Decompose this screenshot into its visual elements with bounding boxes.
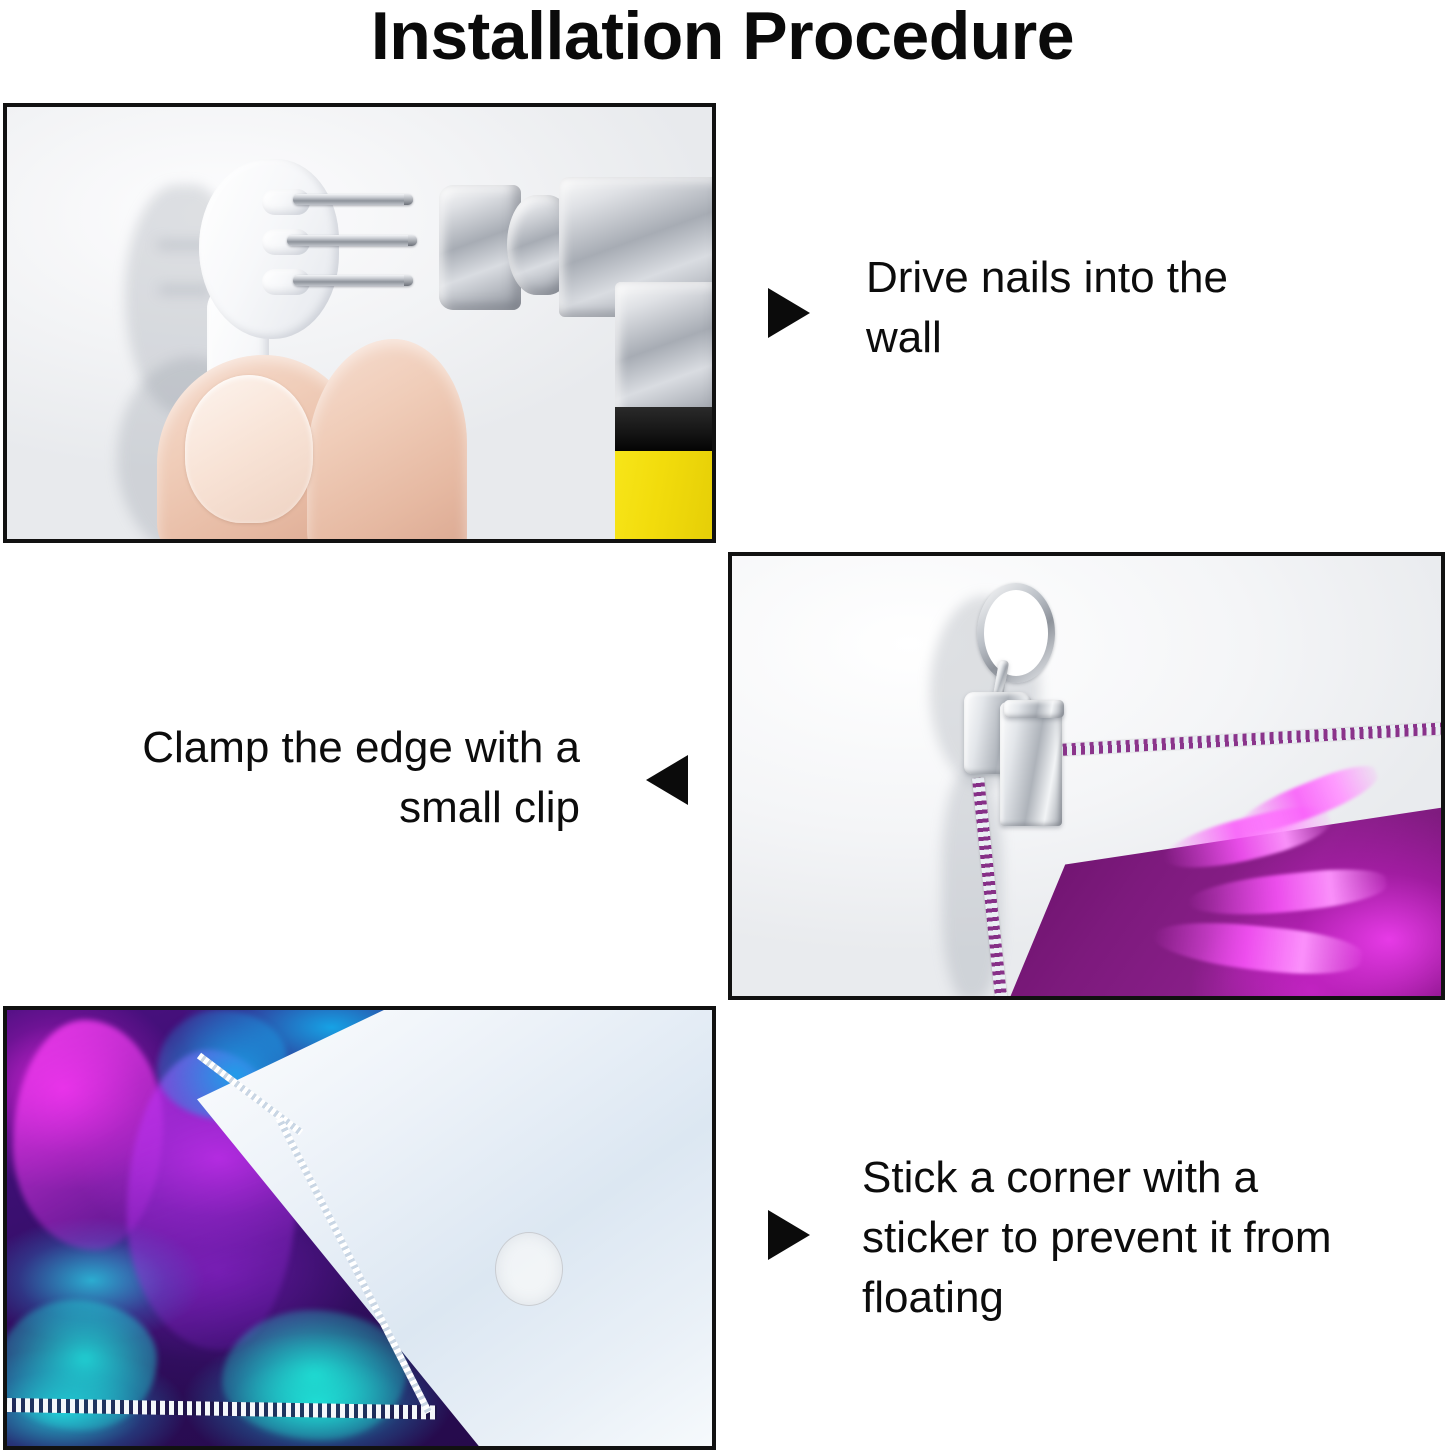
hammer-handle-band — [615, 407, 716, 455]
step-caption-stick-corner: Stick a corner with a sticker to prevent… — [862, 1148, 1332, 1327]
clip-jaw — [1000, 702, 1062, 826]
hook-shadow-tabs — [159, 285, 211, 295]
nail — [293, 194, 413, 205]
triangle-right-icon — [768, 288, 810, 338]
art-swirl-teal-center — [222, 1310, 407, 1440]
step-photo-drive-nails — [3, 103, 716, 543]
clip-hanging-ring — [977, 583, 1055, 683]
step-caption-clamp-edge: Clamp the edge with a small clip — [60, 718, 580, 838]
hammer-grip — [615, 451, 716, 543]
fabric-stitched-edge-top — [1022, 722, 1445, 758]
hammer-handle-shaft — [615, 282, 716, 422]
adhesive-sticker-dot — [495, 1232, 563, 1306]
step-caption-drive-nails: Drive nails into the wall — [866, 248, 1296, 368]
triangle-right-icon — [768, 1210, 810, 1260]
nail — [287, 235, 417, 246]
step-photo-stick-corner — [3, 1006, 716, 1450]
step-photo-clamp-edge — [728, 552, 1445, 1000]
nail — [293, 275, 413, 286]
triangle-left-icon — [646, 755, 688, 805]
clip-jaw-lip — [1004, 700, 1064, 718]
page-title: Installation Procedure — [0, 2, 1445, 70]
thumb — [307, 339, 467, 543]
fingernail — [185, 375, 313, 523]
